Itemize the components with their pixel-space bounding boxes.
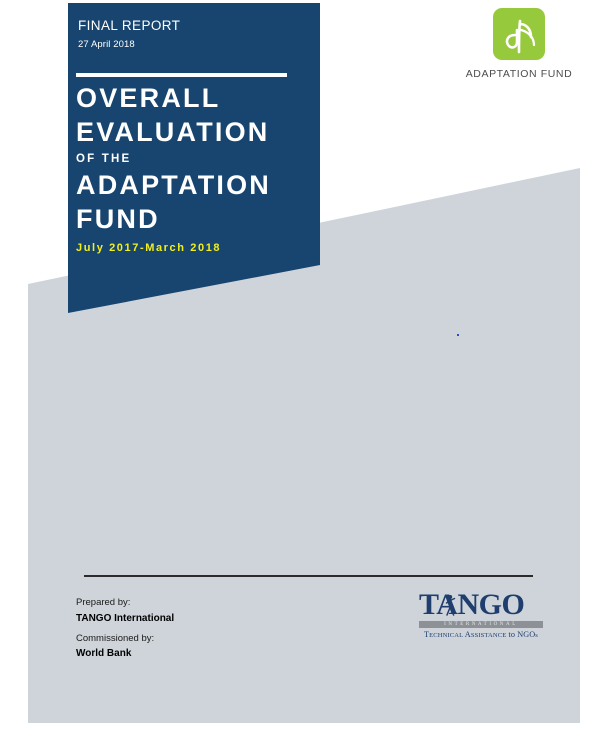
adaptation-fund-logo: ADAPTATION FUND xyxy=(456,8,582,80)
footer-credits: Prepared by: TANGO International Commiss… xyxy=(76,596,326,667)
tango-international-logo: TANGO INTERNATIONAL TECHNICAL ASSISTANCE… xyxy=(419,590,545,639)
commissioned-by-value: World Bank xyxy=(76,646,326,662)
document-cover-page: ADAPTATION FUND FINAL REPORT 27 April 20… xyxy=(0,0,609,748)
title-line-overall: OVERALL xyxy=(76,82,321,116)
tango-tagline-ssistance: SSISTANCE xyxy=(471,632,507,639)
tango-dancer-figure-icon xyxy=(445,594,456,616)
title-line-fund: FUND xyxy=(76,203,321,237)
report-date: 27 April 2018 xyxy=(78,39,314,50)
adaptation-fund-sprout-icon xyxy=(493,8,545,60)
prepared-by-label: Prepared by: xyxy=(76,596,326,611)
tango-wordmark-text: TANGO xyxy=(419,588,524,621)
prepared-by-value: TANGO International xyxy=(76,611,326,627)
tango-international-bar: INTERNATIONAL xyxy=(419,621,543,628)
adaptation-fund-logo-label: ADAPTATION FUND xyxy=(456,68,582,80)
tango-tagline-echnical: ECHNICAL xyxy=(429,632,465,639)
title-line-evaluation: EVALUATION xyxy=(76,116,321,150)
title-line-adaptation: ADAPTATION xyxy=(76,169,321,203)
title-divider-rule xyxy=(76,73,287,77)
tango-wordmark: TANGO xyxy=(419,590,545,620)
tango-tagline-ngo: NGO xyxy=(517,630,535,639)
sprout-icon-glyph xyxy=(493,8,545,60)
footer-divider-rule xyxy=(84,575,533,577)
title-connector-of-the: OF THE xyxy=(76,151,321,168)
report-kicker: FINAL REPORT xyxy=(78,18,314,35)
tango-tagline-to: to xyxy=(506,630,517,639)
report-period: July 2017-March 2018 xyxy=(76,242,321,254)
tango-tagline-s: s xyxy=(535,632,538,639)
commissioned-by-label: Commissioned by: xyxy=(76,632,326,647)
scan-dot-artifact xyxy=(457,334,459,336)
report-header-block: FINAL REPORT 27 April 2018 xyxy=(78,18,314,50)
report-title-block: OVERALL EVALUATION OF THE ADAPTATION FUN… xyxy=(76,82,321,254)
tango-tagline: TECHNICAL ASSISTANCE to NGOs xyxy=(419,630,543,639)
tango-international-text: INTERNATIONAL xyxy=(419,621,543,628)
